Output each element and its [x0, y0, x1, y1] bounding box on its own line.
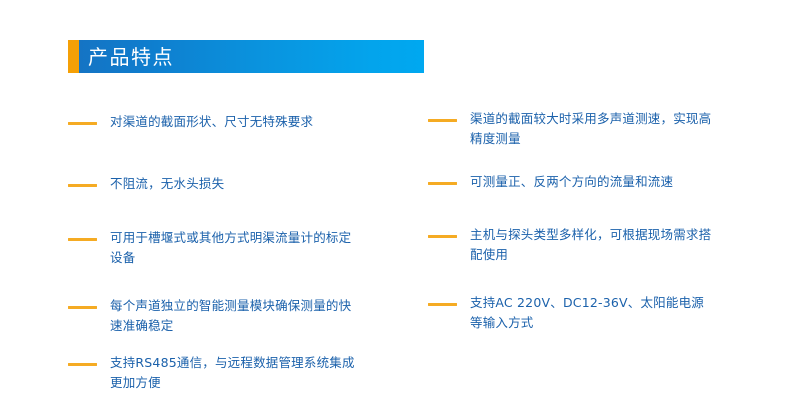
header-gradient-bar: 产品特点: [79, 40, 424, 73]
header-accent-bar: [68, 40, 79, 73]
feature-line: 精度测量: [470, 129, 748, 149]
feature-text: 支持RS485通信，与远程数据管理系统集成 更加方便: [110, 353, 388, 393]
features-container: 对渠道的截面形状、尺寸无特殊要求 不阻流，无水头损失 可用于槽堰式或其他方式明渠…: [0, 100, 800, 418]
feature-line: 等输入方式: [470, 313, 748, 333]
list-item: 每个声道独立的智能测量模块确保测量的快 速准确稳定: [68, 296, 388, 336]
feature-line: 设备: [110, 248, 388, 268]
list-item: 可用于槽堰式或其他方式明渠流量计的标定 设备: [68, 228, 388, 268]
dash-bullet-icon: [68, 122, 97, 125]
list-item: 主机与探头类型多样化，可根据现场需求搭 配使用: [428, 225, 748, 265]
feature-line: 不阻流，无水头损失: [110, 174, 388, 194]
list-item: 不阻流，无水头损失: [68, 174, 388, 194]
feature-line: 可用于槽堰式或其他方式明渠流量计的标定: [110, 228, 388, 248]
product-features-page: 产品特点 对渠道的截面形状、尺寸无特殊要求 不阻流，无水头损失 可用: [0, 0, 800, 418]
feature-line: 可测量正、反两个方向的流量和流速: [470, 172, 748, 192]
feature-text: 主机与探头类型多样化，可根据现场需求搭 配使用: [470, 225, 748, 265]
dash-bullet-icon: [68, 184, 97, 187]
feature-line: 速准确稳定: [110, 316, 388, 336]
feature-text: 可测量正、反两个方向的流量和流速: [470, 172, 748, 192]
feature-line: 支持RS485通信，与远程数据管理系统集成: [110, 353, 388, 373]
dash-bullet-icon: [68, 306, 97, 309]
page-title: 产品特点: [79, 47, 174, 67]
dash-bullet-icon: [428, 119, 457, 122]
feature-text: 支持AC 220V、DC12-36V、太阳能电源 等输入方式: [470, 293, 748, 333]
feature-line: 渠道的截面较大时采用多声道测速，实现高: [470, 109, 748, 129]
list-item: 对渠道的截面形状、尺寸无特殊要求: [68, 112, 388, 132]
feature-text: 每个声道独立的智能测量模块确保测量的快 速准确稳定: [110, 296, 388, 336]
feature-text: 对渠道的截面形状、尺寸无特殊要求: [110, 112, 388, 132]
dash-bullet-icon: [68, 238, 97, 241]
feature-line: 对渠道的截面形状、尺寸无特殊要求: [110, 112, 388, 132]
dash-bullet-icon: [428, 182, 457, 185]
dash-bullet-icon: [428, 235, 457, 238]
list-item: 支持RS485通信，与远程数据管理系统集成 更加方便: [68, 353, 388, 393]
list-item: 可测量正、反两个方向的流量和流速: [428, 172, 748, 192]
feature-line: 更加方便: [110, 373, 388, 393]
feature-text: 不阻流，无水头损失: [110, 174, 388, 194]
dash-bullet-icon: [428, 303, 457, 306]
list-item: 支持AC 220V、DC12-36V、太阳能电源 等输入方式: [428, 293, 748, 333]
feature-line: 支持AC 220V、DC12-36V、太阳能电源: [470, 293, 748, 313]
feature-line: 配使用: [470, 245, 748, 265]
feature-text: 渠道的截面较大时采用多声道测速，实现高 精度测量: [470, 109, 748, 149]
list-item: 渠道的截面较大时采用多声道测速，实现高 精度测量: [428, 109, 748, 149]
feature-line: 每个声道独立的智能测量模块确保测量的快: [110, 296, 388, 316]
dash-bullet-icon: [68, 363, 97, 366]
feature-line: 主机与探头类型多样化，可根据现场需求搭: [470, 225, 748, 245]
section-header-banner: 产品特点: [68, 40, 424, 73]
feature-text: 可用于槽堰式或其他方式明渠流量计的标定 设备: [110, 228, 388, 268]
